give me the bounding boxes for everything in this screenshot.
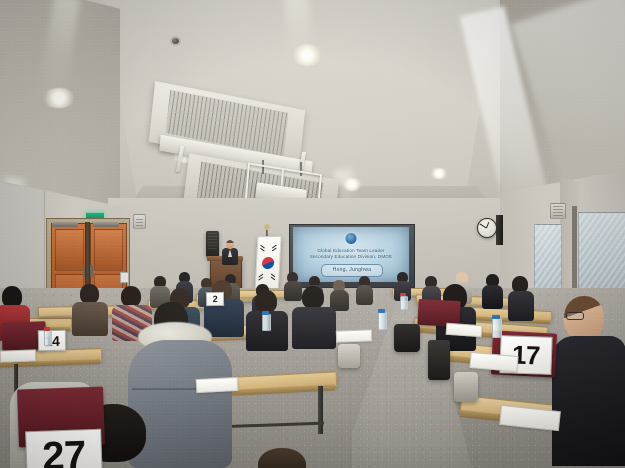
shoulder-bag: [394, 324, 420, 352]
bottle-cap: [400, 293, 406, 296]
water-bottle: [378, 312, 387, 330]
bottle-cap: [44, 327, 50, 331]
presenter: [222, 240, 238, 264]
downlight: [342, 178, 362, 191]
downlight: [292, 44, 322, 66]
handout-paper: [336, 329, 372, 342]
torso: [552, 336, 625, 466]
downlight: [430, 168, 448, 179]
bottle-cap: [378, 309, 385, 313]
clock-bracket: [496, 215, 503, 245]
clock-minute-hand: [479, 223, 486, 228]
desk-leg: [318, 386, 323, 434]
shoulder-bag: [428, 340, 450, 380]
torso: [482, 285, 503, 309]
slide-speaker-name: Hong, Junghwa: [322, 265, 382, 276]
torso: [292, 307, 336, 349]
number-card: 14: [38, 330, 66, 351]
water-bottle: [262, 314, 271, 331]
handout-paper: [446, 323, 483, 337]
slide-line-2: Secondary Education Division, DMOE: [293, 254, 409, 260]
slide-name-box: Hong, Junghwa: [321, 264, 383, 277]
wall-speaker: [550, 203, 566, 219]
door-panel: [94, 229, 123, 271]
puffer-jacket: [128, 340, 232, 468]
number-card: 27: [25, 429, 103, 468]
ceiling-sprinkler: [172, 38, 179, 44]
downlight: [42, 88, 76, 108]
torso: [72, 302, 108, 336]
door-handle[interactable]: [90, 265, 93, 277]
head: [255, 290, 277, 313]
pa-speaker: [206, 231, 219, 257]
handout-paper: [0, 349, 36, 362]
handout-paper: [196, 377, 239, 393]
water-bottle: [44, 330, 52, 346]
head: [121, 286, 141, 307]
water-bottle: [492, 318, 502, 338]
presenter-head: [226, 240, 234, 249]
torso: [284, 281, 302, 301]
tote-bag: [338, 344, 360, 368]
wall-speaker: [133, 214, 146, 229]
number-card: 2: [206, 292, 224, 306]
taeguk-symbol: [262, 257, 275, 269]
bottle-cap: [262, 311, 269, 315]
torso: [508, 291, 534, 321]
bottle-cap: [492, 315, 500, 319]
door-closer: [52, 222, 78, 227]
head: [302, 286, 324, 309]
water-bottle: [400, 296, 408, 310]
head: [80, 284, 99, 304]
door-panel: [55, 229, 84, 271]
door-closer: [93, 222, 119, 227]
projection-screen: Global Education Team Leader Secondary E…: [293, 227, 409, 282]
wall-outlet: [120, 272, 129, 283]
eyeglasses: [566, 312, 584, 320]
torso: [356, 285, 373, 305]
wall-clock: [477, 218, 497, 238]
tote-bag: [454, 372, 478, 402]
flag-finial: [264, 224, 270, 230]
lecture-hall-photo: Global Education Team Leader Secondary E…: [0, 0, 625, 468]
institutional-emblem-icon: [346, 233, 357, 244]
